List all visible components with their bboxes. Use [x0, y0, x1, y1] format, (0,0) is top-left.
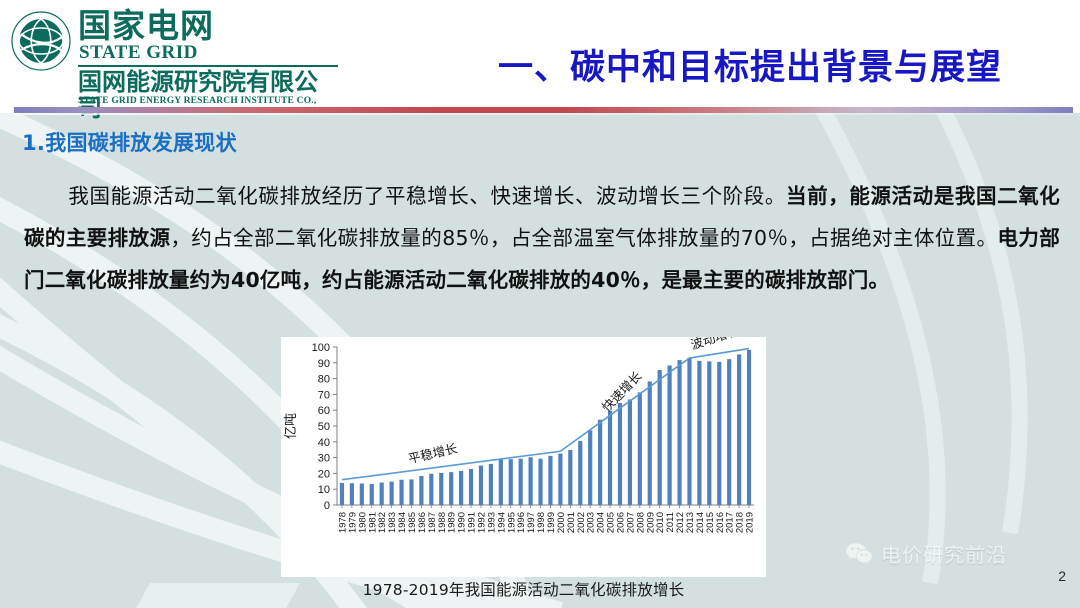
chart-bar — [648, 381, 652, 505]
emissions-bar-chart: 0102030405060708090100亿吨1978197919801981… — [281, 337, 766, 577]
chart-bar — [489, 464, 493, 505]
page-title: 一、碳中和目标提出背景与展望 — [430, 44, 1070, 92]
y-axis-tick-label: 90 — [318, 358, 330, 370]
y-axis-tick-label: 20 — [318, 468, 330, 480]
wechat-icon — [845, 541, 873, 565]
chart-bar — [509, 459, 513, 505]
y-axis-tick-label: 50 — [318, 421, 330, 433]
chart-bar — [538, 459, 542, 505]
chart-bar — [717, 362, 721, 505]
section-heading: 1.我国碳排放发展现状 — [22, 127, 237, 157]
chart-bar — [687, 358, 691, 505]
page-number: 2 — [1058, 568, 1066, 584]
chart-bar — [578, 441, 582, 505]
chart-bar — [439, 473, 443, 505]
chart-bar — [548, 456, 552, 505]
chart-caption: 1978-2019年我国能源活动二氧化碳排放增长 — [281, 578, 766, 600]
y-axis-title: 亿吨 — [284, 413, 299, 439]
chart-bar — [380, 483, 384, 505]
chart-bar — [598, 420, 602, 505]
chart-bar — [340, 483, 344, 505]
chart-bar — [529, 457, 533, 505]
chart-bar — [588, 430, 592, 505]
wechat-brand: 电价研究前沿 — [845, 538, 1007, 568]
chart-bar — [558, 454, 562, 505]
chart-bar — [499, 460, 503, 506]
logo-company-en: STATE GRID — [79, 43, 198, 62]
header-divider-highlight — [14, 113, 1073, 115]
chart-bar — [399, 480, 403, 505]
chart-bar — [409, 479, 413, 505]
chart-bar — [370, 484, 374, 505]
logo-divider — [78, 65, 338, 67]
y-axis-tick-label: 30 — [318, 453, 330, 465]
chart-bar — [747, 350, 751, 505]
paragraph-run-2: ，约占全部二氧化碳排放量的85％，占全部温室气体排放量的70％，占据绝对主体位置… — [170, 226, 997, 250]
y-axis-tick-label: 40 — [318, 437, 330, 449]
chart-bar — [479, 466, 483, 506]
brand-label: 电价研究前沿 — [881, 539, 1007, 568]
chart-bar — [737, 354, 741, 505]
y-axis-tick-label: 100 — [312, 342, 330, 354]
chart-bar — [668, 365, 672, 505]
chart-bar — [429, 474, 433, 505]
chart-bar — [608, 411, 612, 505]
y-axis-tick-label: 80 — [318, 374, 330, 386]
chart-bar — [727, 359, 731, 505]
chart-bar — [350, 483, 354, 505]
y-axis-tick-label: 10 — [318, 484, 330, 496]
chart-bar — [519, 459, 523, 505]
paragraph-run-0: 我国能源活动二氧化碳排放经历了平稳增长、快速增长、波动增长三个阶段。 — [68, 184, 786, 208]
chart-bar — [628, 399, 632, 505]
slide-header: 国家电网 STATE GRID 国网能源研究院有限公司 STATE GRID E… — [0, 0, 1080, 107]
chart-bar — [568, 450, 572, 505]
logo-company-cn: 国家电网 — [78, 9, 214, 42]
chart-bar — [449, 472, 453, 505]
chart-bar — [697, 361, 701, 505]
x-axis-tick-label: 2019 — [745, 512, 756, 533]
stage-annotation: 波动增长 — [689, 337, 742, 352]
chart-bar — [459, 471, 463, 505]
chart-bar — [618, 403, 622, 505]
state-grid-globe-icon — [10, 10, 72, 72]
chart-bar — [390, 482, 394, 505]
chart-bar — [469, 469, 473, 505]
y-axis-tick-label: 70 — [318, 389, 330, 401]
chart-bar — [658, 370, 662, 505]
body-paragraph: 我国能源活动二氧化碳排放经历了平稳增长、快速增长、波动增长三个阶段。当前，能源活… — [24, 175, 1060, 301]
state-grid-logo: 国家电网 STATE GRID 国网能源研究院有限公司 STATE GRID E… — [10, 6, 340, 106]
stage-annotation: 平稳增长 — [407, 440, 460, 466]
chart-bar — [638, 392, 642, 505]
chart-bar — [419, 476, 423, 505]
slide-root: 国家电网 STATE GRID 国网能源研究院有限公司 STATE GRID E… — [0, 0, 1080, 608]
y-axis-tick-label: 0 — [324, 500, 330, 512]
chart-bar — [707, 361, 711, 505]
y-axis-tick-label: 60 — [318, 405, 330, 417]
chart-bar — [360, 484, 364, 505]
chart-canvas: 0102030405060708090100亿吨1978197919801981… — [281, 337, 766, 577]
chart-bar — [677, 360, 681, 505]
